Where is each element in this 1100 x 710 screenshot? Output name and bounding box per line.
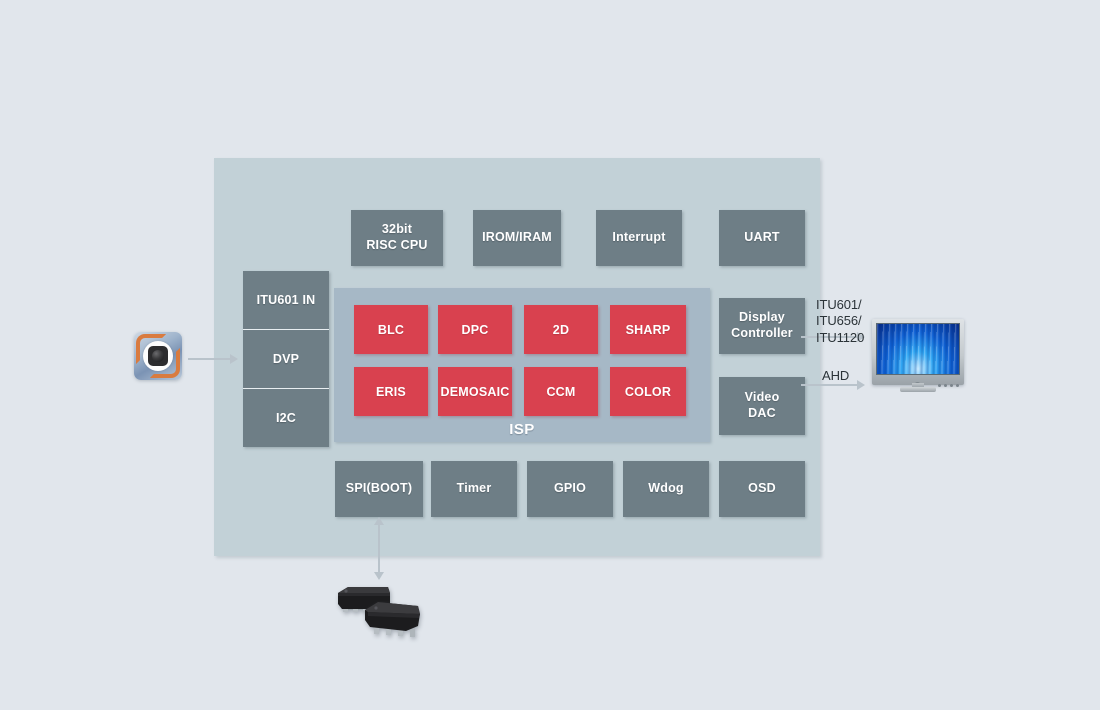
block-irom-iram[interactable]: IROM/IRAM [473,210,561,266]
isp-container: BLC DPC 2D SHARP ERIS DEMOSAIC CCM COLOR… [334,288,710,442]
monitor-menu-button-4[interactable] [956,384,959,387]
io-cell-i2c[interactable]: I2C [243,389,329,447]
io-cell-dvp-label: DVP [273,352,299,366]
block-osd-label: OSD [748,481,776,497]
monitor-menu-button-1[interactable] [938,384,941,387]
io-cell-itu601-in-label: ITU601 IN [257,293,316,307]
arrow-camera-to-dvp-head [230,354,238,364]
monitor-stand-base [900,387,936,392]
block-video-dac[interactable]: Video DAC [719,377,805,435]
isp-block-eris-label: ERIS [376,385,406,399]
arrow-videodac-to-monitor-head [857,380,865,390]
output-label-display: ITU601/ ITU656/ ITU1120 [816,297,864,346]
arrow-spi-flash-head-down [374,572,384,580]
block-risc-cpu[interactable]: 32bit RISC CPU [351,210,443,266]
camera-lens-glass [152,350,164,362]
monitor-bezel [872,319,964,385]
block-uart-label: UART [744,230,780,246]
block-video-dac-label-1: Video [745,390,780,406]
camera-module-icon [134,332,182,380]
io-cell-itu601-in[interactable]: ITU601 IN [243,271,329,330]
block-wdog[interactable]: Wdog [623,461,709,517]
block-gpio[interactable]: GPIO [527,461,613,517]
isp-block-color-label: COLOR [625,385,671,399]
isp-block-color[interactable]: COLOR [610,367,686,416]
output-label-ahd: AHD [822,368,849,384]
monitor-menu-button-3[interactable] [950,384,953,387]
monitor-screen [876,323,960,375]
isp-block-2d-label: 2D [553,323,569,337]
block-uart[interactable]: UART [719,210,805,266]
block-risc-cpu-label-1: 32bit [366,222,427,238]
io-cell-i2c-label: I2C [276,411,296,425]
isp-block-dpc[interactable]: DPC [438,305,512,354]
arrow-camera-to-dvp-line [188,358,231,360]
isp-block-ccm-label: CCM [546,385,575,399]
block-timer-label: Timer [457,481,492,497]
isp-block-sharp[interactable]: SHARP [610,305,686,354]
block-risc-cpu-label-2: RISC CPU [366,238,427,254]
block-spi-boot[interactable]: SPI(BOOT) [335,461,423,517]
io-cell-dvp[interactable]: DVP [243,330,329,389]
isp-block-demosaic[interactable]: DEMOSAIC [438,367,512,416]
block-display-controller-label-2: Controller [731,326,793,342]
isp-block-blc-label: BLC [378,323,404,337]
block-display-controller[interactable]: Display Controller [719,298,805,354]
isp-block-blc[interactable]: BLC [354,305,428,354]
block-display-controller-label-1: Display [731,310,793,326]
block-wdog-label: Wdog [648,481,684,497]
block-timer[interactable]: Timer [431,461,517,517]
isp-block-sharp-label: SHARP [626,323,671,337]
isp-block-2d[interactable]: 2D [524,305,598,354]
block-interrupt-label: Interrupt [612,230,665,246]
io-interface-column: ITU601 IN DVP I2C [243,271,329,447]
isp-block-eris[interactable]: ERIS [354,367,428,416]
flash-chip-package-b [362,598,426,638]
block-gpio-label: GPIO [554,481,586,497]
block-spi-boot-label: SPI(BOOT) [346,481,412,497]
block-irom-iram-label: IROM/IRAM [482,230,552,246]
spi-flash-chip-icon [334,584,426,636]
block-interrupt[interactable]: Interrupt [596,210,682,266]
block-video-dac-label-2: DAC [745,406,780,422]
isp-block-ccm[interactable]: CCM [524,367,598,416]
block-osd[interactable]: OSD [719,461,805,517]
isp-title-label: ISP [334,421,710,438]
isp-block-dpc-label: DPC [462,323,489,337]
arrow-spi-flash-line [378,524,380,574]
display-monitor-icon [872,319,964,393]
monitor-menu-button-2[interactable] [944,384,947,387]
isp-block-demosaic-label: DEMOSAIC [441,385,510,399]
